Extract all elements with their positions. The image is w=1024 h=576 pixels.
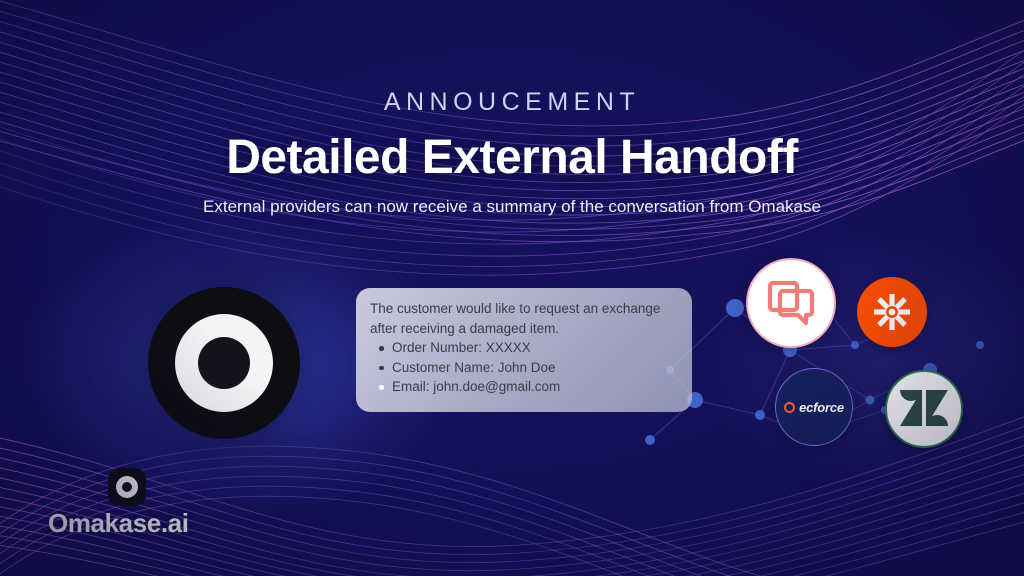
zendesk-z-icon xyxy=(897,382,951,436)
zapier-asterisk-icon xyxy=(871,291,913,333)
summary-detail-list: Order Number: XXXXX Customer Name: John … xyxy=(370,338,678,397)
page-title: Detailed External Handoff xyxy=(0,130,1024,185)
omakase-ring-inner xyxy=(198,337,250,389)
ecforce-label: ecforce xyxy=(799,400,844,415)
list-item: Order Number: XXXXX xyxy=(370,338,678,358)
ecforce-logo: ecforce xyxy=(775,368,853,446)
brand-logo-badge xyxy=(108,468,146,506)
summary-paragraph: The customer would like to request an ex… xyxy=(370,299,678,338)
chat-bubble-logo xyxy=(746,258,836,348)
bullet-icon xyxy=(379,366,384,371)
list-item-label: Email: john.doe@gmail.com xyxy=(392,379,560,394)
announcement-banner: The customer would like to request an ex… xyxy=(0,0,1024,576)
list-item: Customer Name: John Doe xyxy=(370,358,678,378)
brand-ring-inner xyxy=(122,482,132,492)
kicker-label: ANNOUCEMENT xyxy=(0,88,1024,117)
conversation-summary-card: The customer would like to request an ex… xyxy=(356,288,692,412)
bullet-icon xyxy=(379,346,384,351)
chat-bubble-icon xyxy=(766,279,816,327)
omakase-ring-outer xyxy=(175,314,273,412)
omakase-ring-logo xyxy=(148,287,300,439)
subtitle-text: External providers can now receive a sum… xyxy=(0,197,1024,217)
brand-ring-outer xyxy=(116,476,138,498)
brand-name-label: Omakase.ai xyxy=(48,508,189,539)
ecforce-ring-icon xyxy=(784,402,795,413)
zapier-logo xyxy=(857,277,927,347)
zendesk-logo xyxy=(885,370,963,448)
list-item-label: Customer Name: John Doe xyxy=(392,360,556,375)
list-item: Email: john.doe@gmail.com xyxy=(370,377,678,397)
list-item-label: Order Number: XXXXX xyxy=(392,340,531,355)
bullet-icon xyxy=(379,385,384,390)
